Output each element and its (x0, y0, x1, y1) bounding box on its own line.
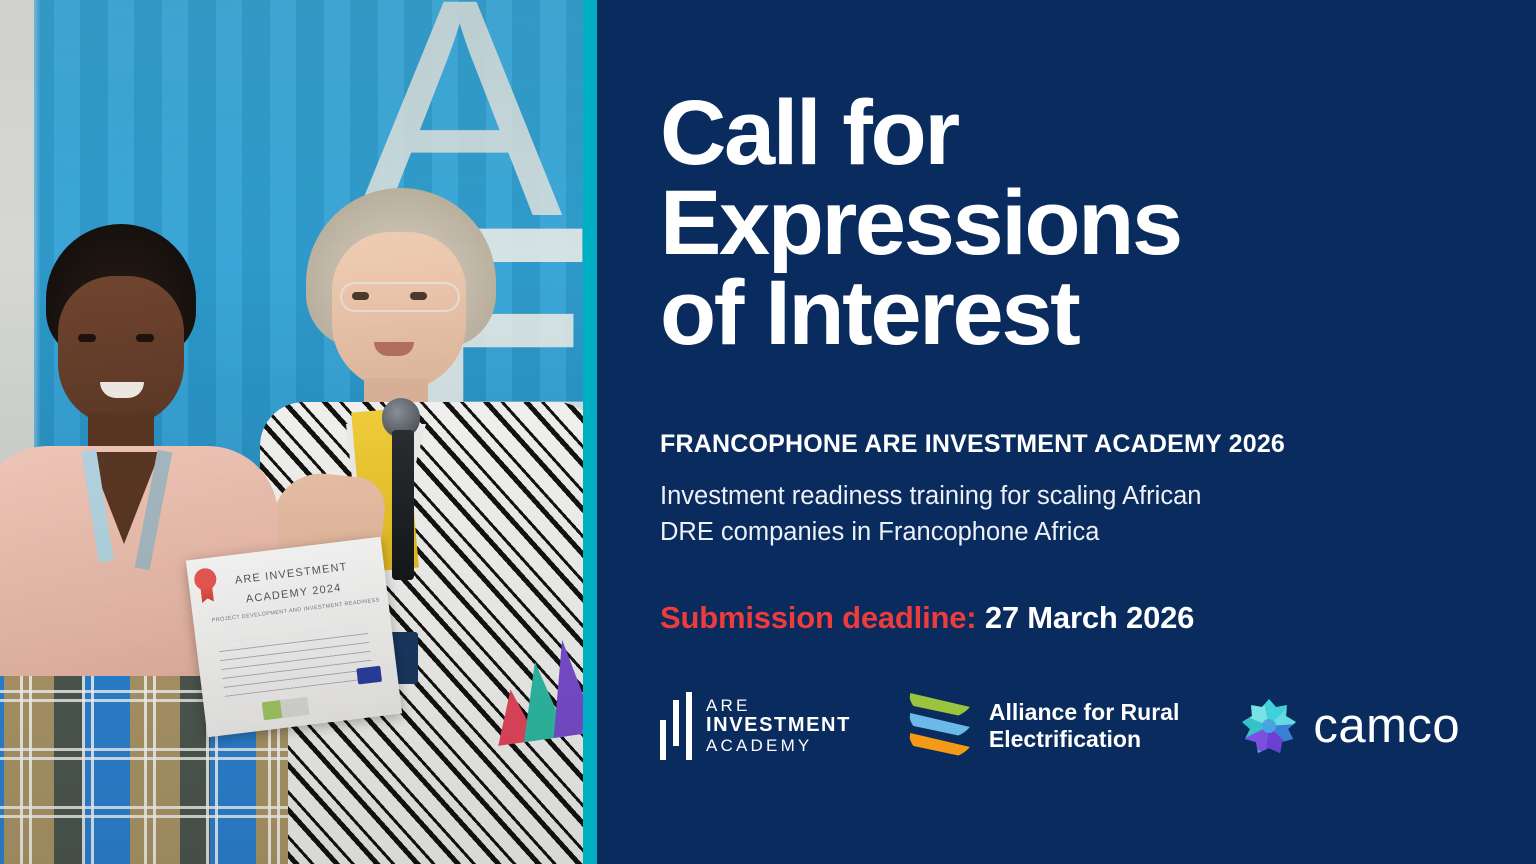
logo-alliance-for-rural-electrification: Alliance for Rural Electrification (909, 687, 1179, 765)
are-line-2: Electrification (989, 726, 1179, 753)
description-line-1: Investment readiness training for scalin… (660, 478, 1400, 514)
description-line-2: DRE companies in Francophone Africa (660, 514, 1400, 550)
academy-line-1: ARE (706, 697, 851, 715)
are-swoosh-icon (909, 691, 975, 761)
headline-line-2: Expressions (660, 178, 1360, 268)
page-title: Call for Expressions of Interest (660, 88, 1360, 358)
headline-line-3: of Interest (660, 268, 1360, 358)
academy-bars-icon (660, 692, 696, 760)
logo-row: ARE INVESTMENT ACADEMY Alliance for Rura… (660, 676, 1500, 776)
academy-wordmark: ARE INVESTMENT ACADEMY (706, 697, 851, 755)
swoosh-orange (909, 733, 975, 759)
deadline-label: Submission deadline: (660, 600, 976, 635)
are-wordmark: Alliance for Rural Electrification (989, 699, 1179, 753)
teal-divider (583, 0, 597, 864)
program-description: Investment readiness training for scalin… (660, 478, 1400, 550)
event-photo: A E (0, 0, 583, 864)
academy-line-3: ACADEMY (706, 737, 851, 755)
headline-line-1: Call for (660, 88, 1360, 178)
camco-star-icon (1241, 698, 1297, 754)
promotional-banner: A E (0, 0, 1536, 864)
deadline-date: 27 March 2026 (985, 600, 1194, 635)
program-subtitle: FRANCOPHONE ARE INVESTMENT ACADEMY 2026 (660, 430, 1460, 459)
camco-wordmark: camco (1313, 698, 1460, 754)
logo-are-investment-academy: ARE INVESTMENT ACADEMY (660, 687, 851, 765)
academy-line-2: INVESTMENT (706, 715, 851, 737)
logo-camco: camco (1241, 687, 1460, 765)
submission-deadline: Submission deadline: 27 March 2026 (660, 600, 1480, 636)
are-line-1: Alliance for Rural (989, 699, 1179, 726)
photo-vignette (0, 0, 583, 864)
content-panel: Call for Expressions of Interest FRANCOP… (597, 0, 1536, 864)
